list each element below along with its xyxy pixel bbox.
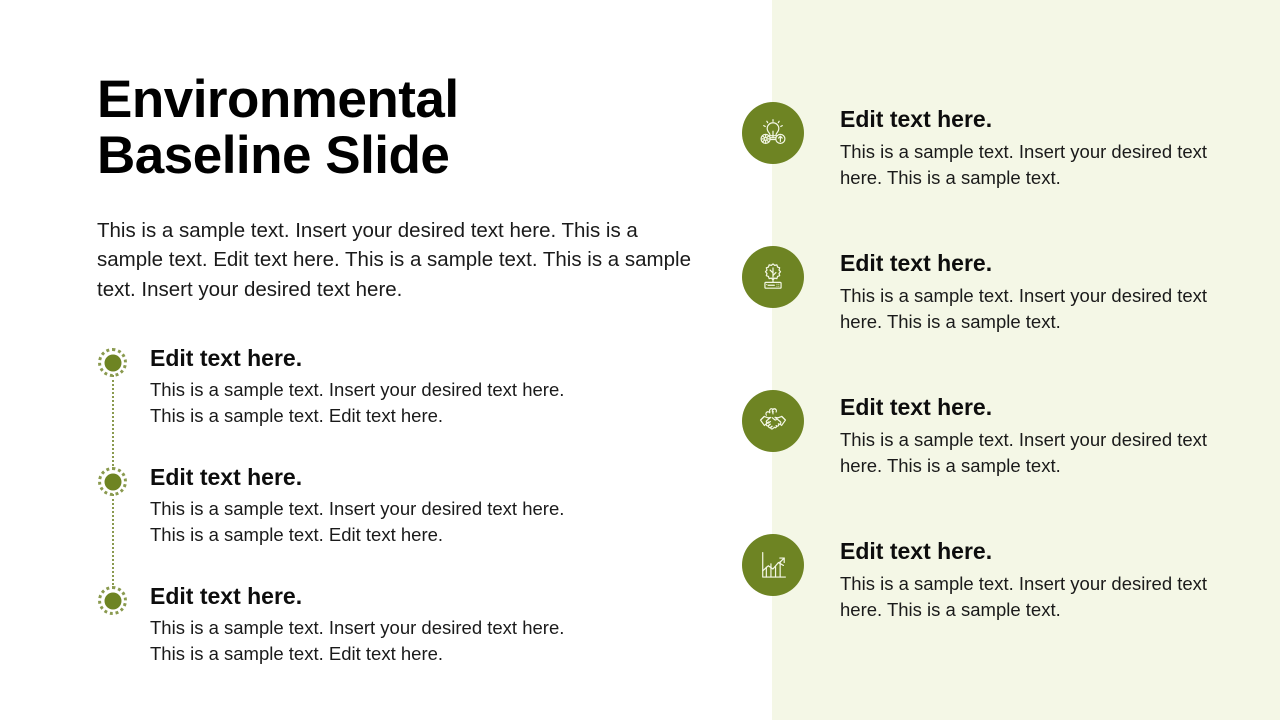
timeline-item-heading: Edit text here. bbox=[150, 464, 590, 490]
timeline-item-text: This is a sample text. Insert your desir… bbox=[150, 490, 590, 547]
list-item[interactable]: Edit text here. This is a sample text. I… bbox=[97, 583, 717, 666]
tree-planter-growth-icon bbox=[742, 246, 804, 308]
feature-item-heading: Edit text here. bbox=[840, 250, 1240, 276]
feature-list: Edit text here. This is a sample text. I… bbox=[742, 102, 1262, 678]
timeline-item-body: Edit text here. This is a sample text. I… bbox=[128, 345, 590, 428]
feature-item-text: This is a sample text. Insert your desir… bbox=[840, 132, 1240, 190]
timeline-marker-column bbox=[97, 345, 128, 464]
timeline-connector-line bbox=[112, 494, 114, 589]
list-item[interactable]: Edit text here. This is a sample text. I… bbox=[97, 464, 717, 583]
feature-item-heading: Edit text here. bbox=[840, 538, 1240, 564]
feature-item-body: Edit text here. This is a sample text. I… bbox=[804, 534, 1240, 622]
timeline-item-body: Edit text here. This is a sample text. I… bbox=[128, 464, 590, 547]
feature-item-heading: Edit text here. bbox=[840, 394, 1240, 420]
timeline-dot-icon bbox=[98, 586, 127, 615]
list-item[interactable]: Edit text here. This is a sample text. I… bbox=[742, 246, 1262, 390]
timeline-marker-column bbox=[97, 583, 128, 666]
feature-item-body: Edit text here. This is a sample text. I… bbox=[804, 390, 1240, 478]
timeline-connector-line bbox=[112, 375, 114, 470]
feature-item-text: This is a sample text. Insert your desir… bbox=[840, 420, 1240, 478]
list-item[interactable]: Edit text here. This is a sample text. I… bbox=[742, 102, 1262, 246]
timeline-item-text: This is a sample text. Insert your desir… bbox=[150, 371, 590, 428]
timeline-item-text: This is a sample text. Insert your desir… bbox=[150, 609, 590, 666]
list-item[interactable]: Edit text here. This is a sample text. I… bbox=[742, 534, 1262, 678]
feature-item-body: Edit text here. This is a sample text. I… bbox=[804, 246, 1240, 334]
timeline-item-body: Edit text here. This is a sample text. I… bbox=[128, 583, 590, 666]
feature-item-text: This is a sample text. Insert your desir… bbox=[840, 276, 1240, 334]
feature-item-text: This is a sample text. Insert your desir… bbox=[840, 564, 1240, 622]
handshake-partnership-icon bbox=[742, 390, 804, 452]
feature-item-heading: Edit text here. bbox=[840, 106, 1240, 132]
timeline-dot-icon bbox=[98, 348, 127, 377]
intro-paragraph: This is a sample text. Insert your desir… bbox=[97, 184, 697, 303]
left-content-column: Environmental Baseline Slide This is a s… bbox=[97, 72, 707, 304]
timeline-item-heading: Edit text here. bbox=[150, 345, 590, 371]
timeline-dot-icon bbox=[98, 467, 127, 496]
timeline-marker-column bbox=[97, 464, 128, 583]
list-item[interactable]: Edit text here. This is a sample text. I… bbox=[97, 345, 717, 464]
feature-item-body: Edit text here. This is a sample text. I… bbox=[804, 102, 1240, 190]
timeline-item-heading: Edit text here. bbox=[150, 583, 590, 609]
slide-canvas: Environmental Baseline Slide This is a s… bbox=[0, 0, 1280, 720]
lightbulb-gear-innovation-icon bbox=[742, 102, 804, 164]
growth-bar-chart-arrow-icon bbox=[742, 534, 804, 596]
page-title: Environmental Baseline Slide bbox=[97, 72, 527, 184]
list-item[interactable]: Edit text here. This is a sample text. I… bbox=[742, 390, 1262, 534]
timeline-list: Edit text here. This is a sample text. I… bbox=[97, 345, 717, 666]
